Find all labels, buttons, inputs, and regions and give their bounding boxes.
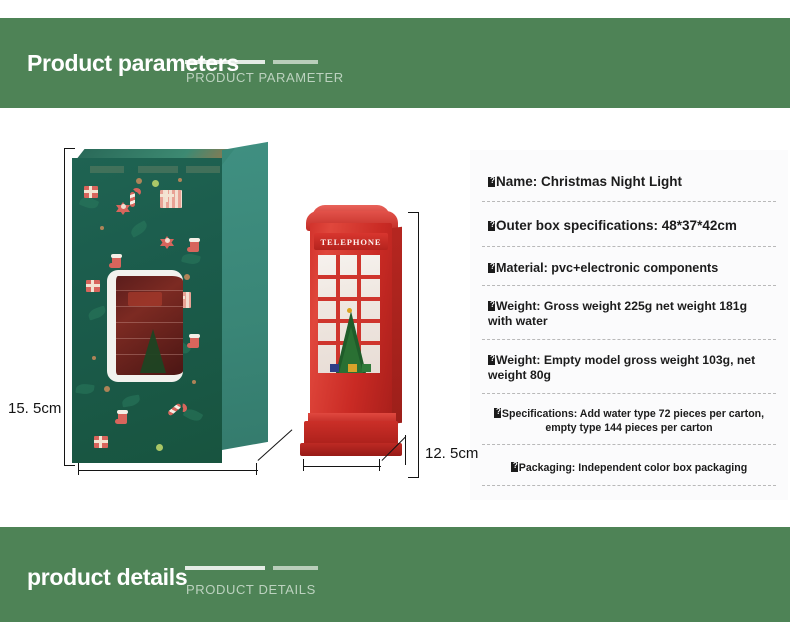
snowflake-icon bbox=[100, 226, 104, 230]
telephone-booth-product-image: TELEPHONE bbox=[300, 203, 410, 463]
snowflake-icon bbox=[178, 178, 182, 182]
booth-height-caliper bbox=[418, 212, 419, 478]
page-subtitle-product-details: PRODUCT DETAILS bbox=[186, 582, 316, 597]
caliper-tick bbox=[64, 465, 75, 466]
bullet-marker-icon bbox=[488, 355, 495, 365]
gift-box-flap bbox=[186, 166, 220, 173]
page-title-product-details: product details bbox=[27, 564, 187, 591]
spec-text: Specifications: Add water type 72 pieces… bbox=[488, 407, 770, 436]
width-caliper-line bbox=[78, 470, 258, 471]
snowflake-icon bbox=[184, 274, 190, 280]
caliper-tick bbox=[78, 463, 79, 475]
gift-box-icon bbox=[330, 364, 339, 372]
spec-value: Material: pvc+electronic components bbox=[496, 261, 718, 275]
tree-star-icon bbox=[347, 308, 352, 313]
caliper-tick bbox=[256, 463, 257, 475]
product-content-area: TELEPHONE bbox=[0, 108, 790, 527]
spec-value: Weight: Gross weight 225g net weight 181… bbox=[488, 299, 747, 329]
bullet-marker-icon bbox=[511, 462, 518, 472]
spec-text: Packaging: Independent color box packagi… bbox=[488, 461, 770, 476]
bullet-marker-icon bbox=[488, 177, 495, 187]
gift-box-flap bbox=[90, 166, 124, 173]
caliper-tick bbox=[408, 477, 419, 478]
window-mullion bbox=[318, 297, 380, 301]
spec-text: Name: Christmas Night Light bbox=[488, 173, 770, 190]
booth-telephone-sign: TELEPHONE bbox=[314, 233, 388, 250]
specifications-list: Name: Christmas Night Light Outer box sp… bbox=[470, 150, 788, 486]
bullet-marker-icon bbox=[488, 221, 495, 231]
gift-box-icon bbox=[160, 190, 182, 208]
bullet-marker-icon bbox=[494, 408, 501, 418]
spec-row-outer-box: Outer box specifications: 48*37*42cm bbox=[482, 208, 776, 246]
gift-box-icon bbox=[94, 436, 108, 448]
spec-row-name: Name: Christmas Night Light bbox=[482, 164, 776, 202]
candy-cane-icon bbox=[167, 403, 182, 416]
spec-value: Outer box specifications: 48*37*42cm bbox=[496, 218, 737, 233]
ornament-ball-icon bbox=[156, 444, 163, 451]
dimension-label-booth-height: 12. 5cm bbox=[425, 445, 478, 462]
details-decoration-bar-long bbox=[185, 566, 265, 570]
spec-text: Outer box specifications: 48*37*42cm bbox=[488, 217, 770, 234]
holly-leaf-icon bbox=[181, 252, 201, 266]
product-parameters-page: Product parameters PRODUCT PARAMETER bbox=[0, 0, 790, 641]
spec-value: Weight: Empty model gross weight 103g, n… bbox=[488, 353, 755, 383]
booth-depth-guide bbox=[405, 435, 406, 465]
dimension-label-box-height: 15. 5cm bbox=[8, 400, 61, 417]
holly-leaf-icon bbox=[87, 305, 107, 320]
stocking-icon bbox=[190, 334, 199, 348]
snowflake-icon bbox=[104, 386, 110, 392]
caliper-tick bbox=[379, 459, 380, 471]
spec-row-material: Material: pvc+electronic components bbox=[482, 253, 776, 286]
window-booth-sign bbox=[128, 292, 162, 306]
gift-box-icon bbox=[84, 186, 98, 198]
snowflake-icon bbox=[92, 356, 96, 360]
height-caliper-line bbox=[64, 148, 65, 466]
ornament-ball-icon bbox=[152, 180, 159, 187]
specifications-panel: Name: Christmas Night Light Outer box sp… bbox=[470, 150, 788, 500]
caliper-tick bbox=[408, 212, 419, 213]
candy-cane-icon bbox=[130, 192, 135, 207]
booth-sign-text: TELEPHONE bbox=[320, 237, 381, 247]
spec-value: Name: Christmas Night Light bbox=[496, 174, 682, 189]
gift-box-side-face bbox=[222, 142, 268, 450]
details-decoration-bar-short bbox=[273, 566, 318, 570]
stocking-icon bbox=[190, 238, 199, 252]
spec-row-carton-specifications: Specifications: Add water type 72 pieces… bbox=[482, 400, 776, 445]
stocking-icon bbox=[118, 410, 127, 424]
snowflake-icon bbox=[192, 380, 196, 384]
booth-glass-panel bbox=[318, 255, 380, 373]
gift-box-product-image bbox=[72, 150, 268, 470]
gift-box-icon bbox=[362, 364, 371, 372]
holly-leaf-icon bbox=[129, 220, 150, 238]
spec-value: Specifications: Add water type 72 pieces… bbox=[502, 408, 764, 434]
header-decoration-bar-short bbox=[273, 60, 318, 64]
holly-leaf-icon bbox=[121, 395, 140, 408]
gift-box-icon bbox=[348, 364, 357, 372]
caliper-tick bbox=[64, 148, 75, 149]
holly-leaf-icon bbox=[75, 383, 94, 395]
spec-row-weight-water: Weight: Gross weight 225g net weight 181… bbox=[482, 292, 776, 340]
stocking-icon bbox=[112, 254, 121, 268]
spec-row-packaging: Packaging: Independent color box packagi… bbox=[482, 451, 776, 487]
page-subtitle-product-parameters: PRODUCT PARAMETER bbox=[186, 70, 344, 85]
spec-text: Weight: Empty model gross weight 103g, n… bbox=[488, 353, 770, 384]
spec-text: Weight: Gross weight 225g net weight 181… bbox=[488, 299, 770, 330]
booth-width-caliper bbox=[303, 466, 381, 467]
spec-text: Material: pvc+electronic components bbox=[488, 260, 770, 276]
spec-value: Packaging: Independent color box packagi… bbox=[519, 462, 747, 474]
bullet-marker-icon bbox=[488, 263, 495, 273]
caliper-tick bbox=[303, 459, 304, 471]
gift-box-display-window bbox=[107, 270, 183, 382]
window-mullion bbox=[318, 275, 380, 279]
snowflake-icon bbox=[136, 178, 142, 184]
gift-box-flap bbox=[138, 166, 178, 173]
spec-row-weight-empty: Weight: Empty model gross weight 103g, n… bbox=[482, 346, 776, 394]
window-christmas-tree bbox=[140, 329, 166, 373]
gift-box-front-face bbox=[72, 158, 222, 463]
gift-box-icon bbox=[86, 280, 100, 292]
bullet-marker-icon bbox=[488, 301, 495, 311]
